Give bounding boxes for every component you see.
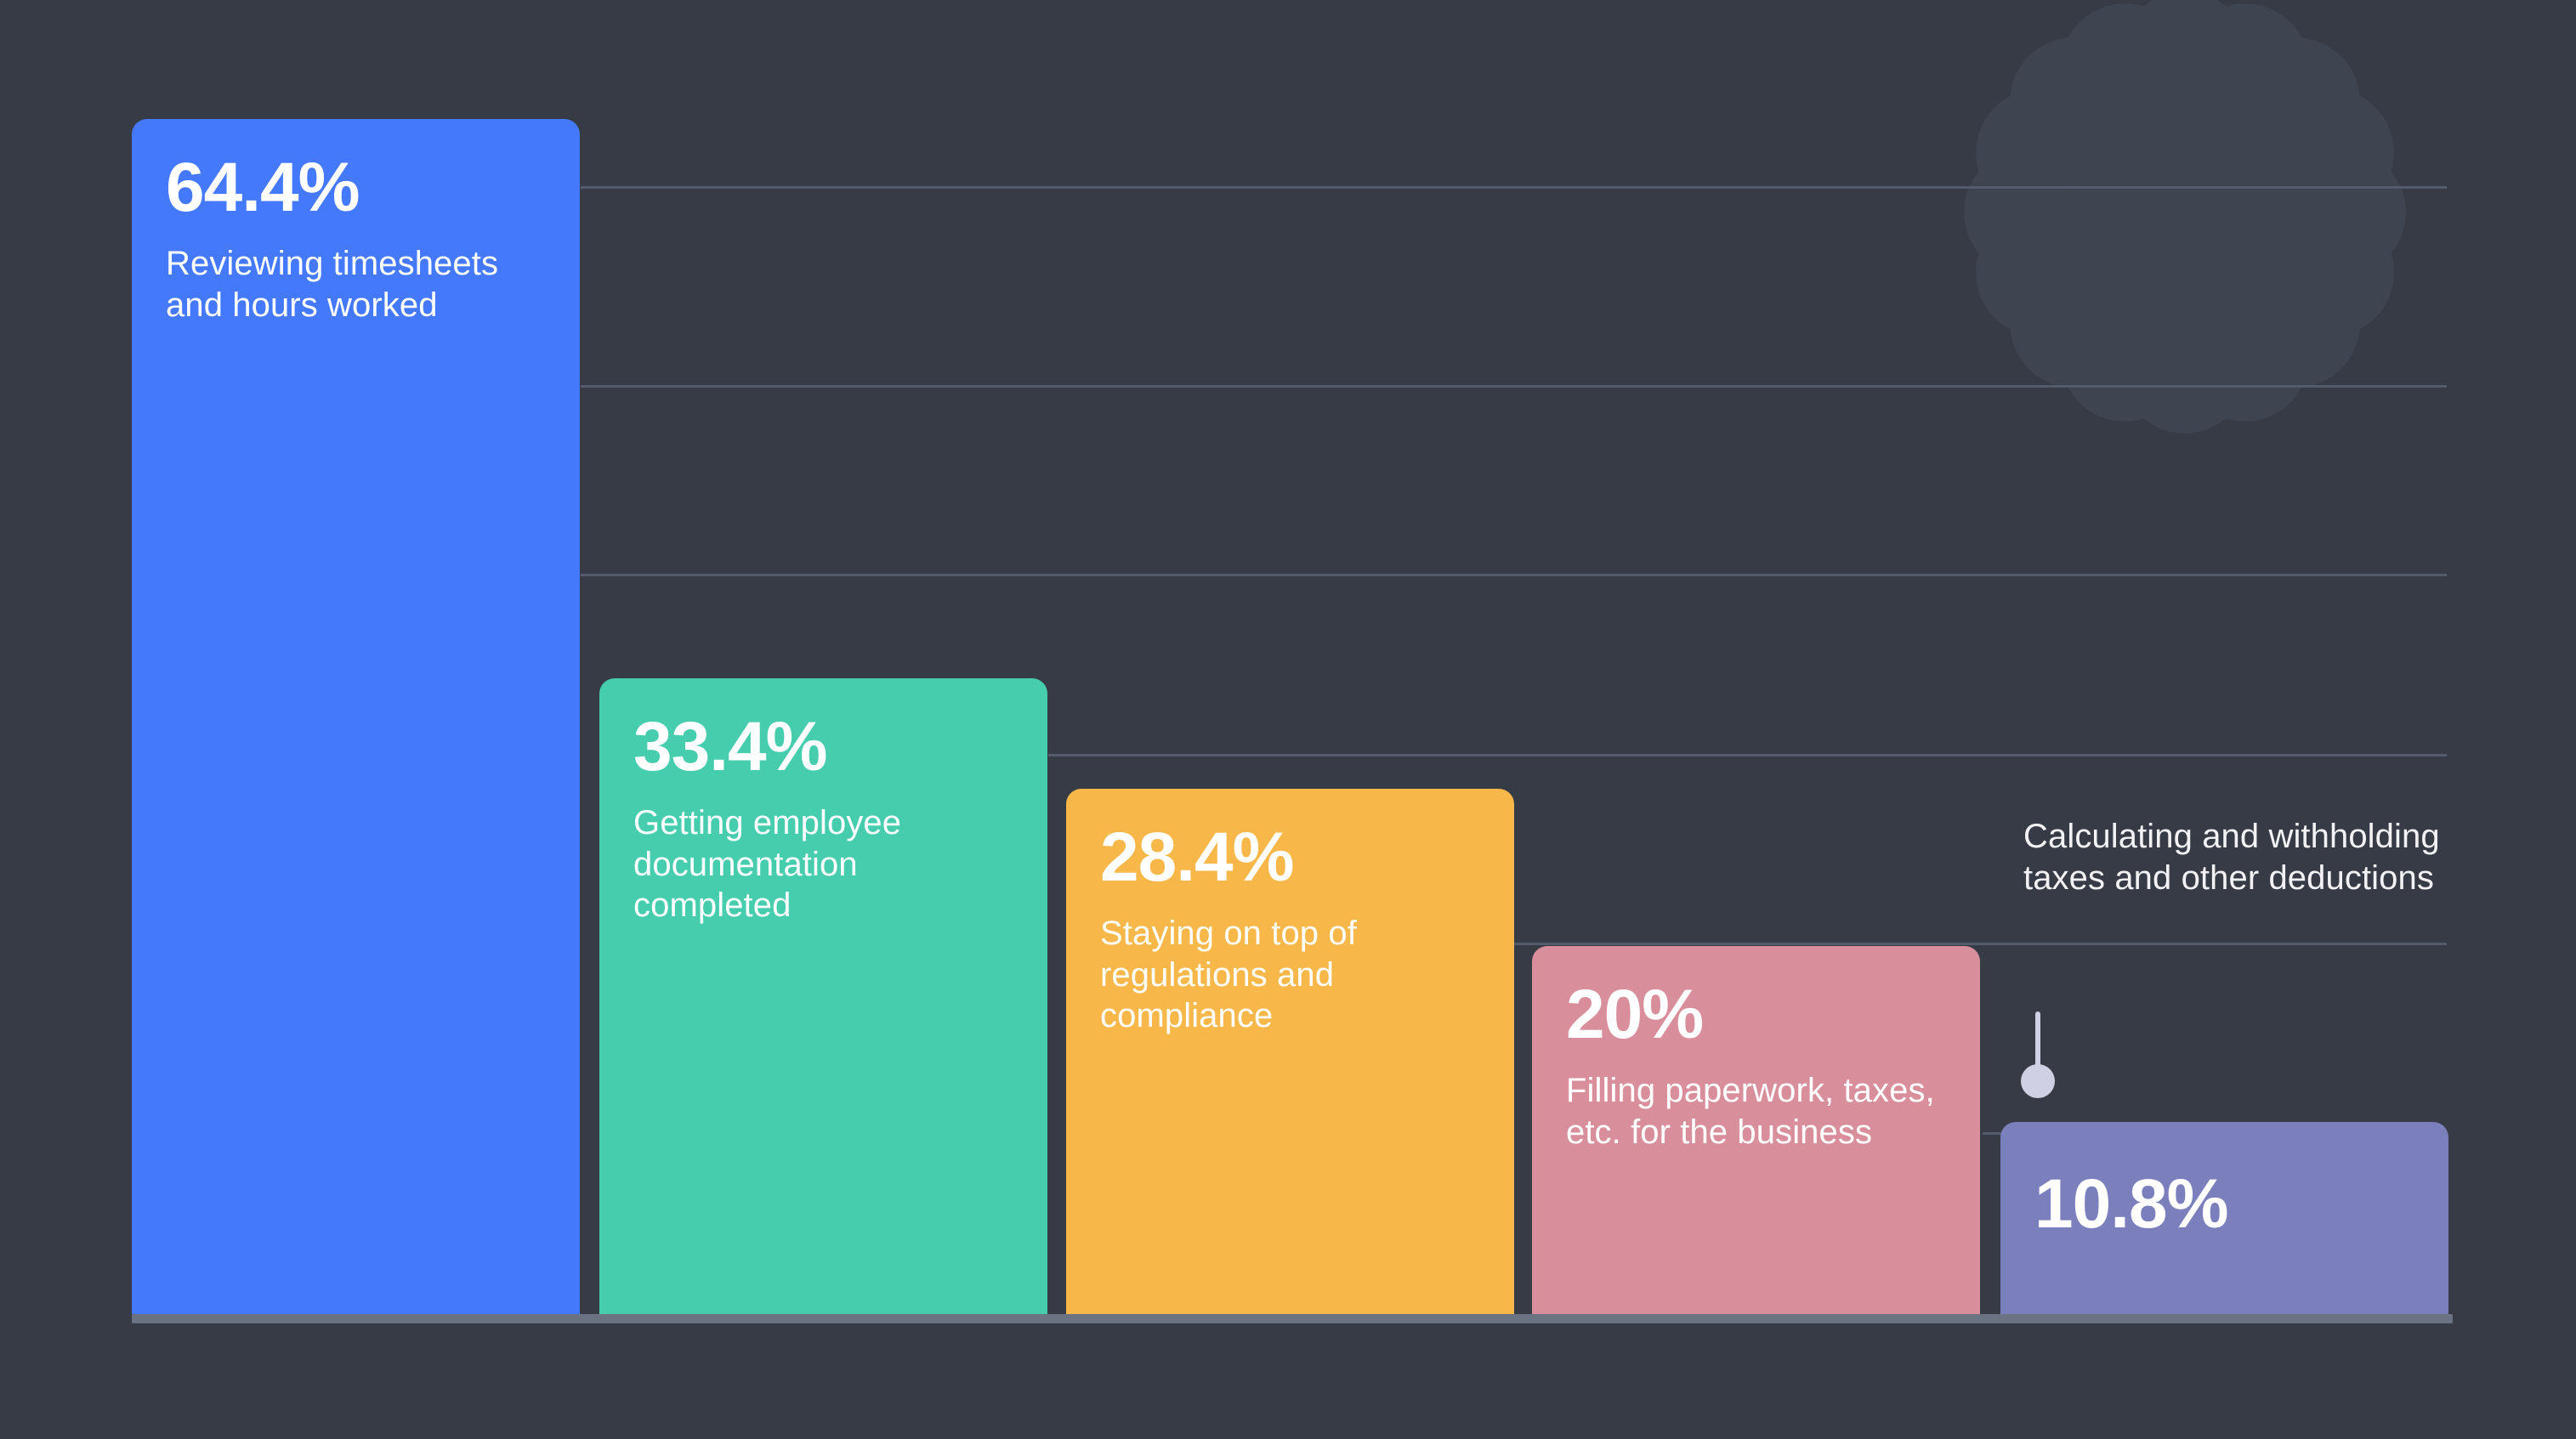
- bar-description: Reviewing timesheets and hours worked: [166, 243, 540, 326]
- bar-2[interactable]: 33.4% Getting employee documentation com…: [599, 678, 1047, 1314]
- bar-value-label: 64.4%: [166, 155, 546, 221]
- bar-value-label: 20%: [1566, 982, 1946, 1048]
- bar-description: Staying on top of regulations and compli…: [1100, 913, 1474, 1037]
- plot-area: 64.4% Reviewing timesheets and hours wor…: [0, 0, 2576, 1439]
- gridline: [1514, 943, 2447, 945]
- callout-leader-dot-icon: [2021, 1064, 2055, 1098]
- bar-value-label: 28.4%: [1100, 824, 1480, 891]
- bar-value-label: 33.4%: [633, 714, 1013, 780]
- gridline: [581, 385, 2447, 388]
- chart-canvas: 64.4% Reviewing timesheets and hours wor…: [0, 0, 2576, 1439]
- bar-3[interactable]: 28.4% Staying on top of regulations and …: [1066, 789, 1514, 1314]
- gridline: [1048, 754, 2447, 756]
- bar-1[interactable]: 64.4% Reviewing timesheets and hours wor…: [132, 119, 580, 1314]
- bar-description: Filling paperwork, taxes, etc. for the b…: [1566, 1070, 1940, 1153]
- gridline: [581, 574, 2447, 576]
- gridline: [581, 186, 2447, 189]
- callout-text: Calculating and withholding taxes and ot…: [2023, 816, 2448, 899]
- bar-value-label: 10.8%: [2034, 1171, 2414, 1238]
- bar-5-callout-label: Calculating and withholding taxes and ot…: [2023, 816, 2448, 899]
- bar-4[interactable]: 20% Filling paperwork, taxes, etc. for t…: [1532, 946, 1980, 1314]
- bar-description: Getting employee documentation completed: [633, 802, 1007, 926]
- bar-5[interactable]: 10.8%: [2000, 1122, 2448, 1314]
- x-axis-baseline: [132, 1314, 2453, 1323]
